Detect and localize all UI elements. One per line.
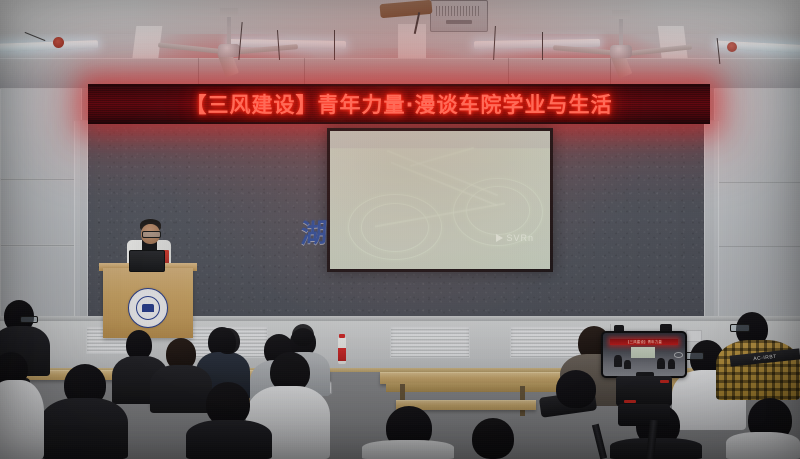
audience-body	[726, 432, 800, 459]
audience-glasses	[730, 324, 750, 332]
audience-body	[40, 398, 128, 459]
smoke-detector	[53, 37, 64, 48]
fan-motor	[610, 45, 632, 58]
audience-head	[216, 328, 240, 354]
audience-body	[610, 438, 702, 459]
wall-vent-grille	[390, 326, 470, 358]
ceiling-projector	[430, 0, 488, 32]
speaker-laptop	[129, 250, 165, 272]
preview-record-ring	[674, 352, 683, 358]
projection-screen-frame: SVRn	[327, 128, 553, 272]
audience-head	[472, 418, 514, 459]
wall-panel-right	[714, 88, 800, 340]
preview-led-text: 【三风建设】青年力量	[610, 339, 679, 345]
gimbal-body	[618, 404, 670, 426]
gimbal-accent	[624, 400, 636, 403]
fan-motor	[218, 44, 240, 57]
projector-vent	[436, 6, 480, 16]
screen-watermark: SVRn	[496, 233, 534, 243]
panel-seam	[714, 182, 800, 183]
audience-body	[0, 380, 44, 459]
led-banner-text: 【三风建设】青年力量·漫谈车院学业与生活	[186, 89, 613, 119]
audience-body	[362, 440, 454, 459]
crest-inner-ring	[136, 296, 160, 320]
bottle-label	[338, 348, 346, 361]
audience-body	[186, 420, 272, 459]
panel-seam	[714, 246, 800, 247]
preview-figure	[657, 358, 665, 369]
lecture-hall-photo: 【三风建设】青年力量·漫谈车院学业与生活 SVRn 湖	[0, 0, 800, 459]
audience-body	[150, 365, 212, 413]
wall-switch[interactable]	[686, 330, 702, 342]
play-icon	[496, 234, 503, 242]
preview-figure	[614, 355, 621, 366]
preview-led-banner: 【三风建设】青年力量	[610, 339, 679, 345]
crest-core	[142, 304, 154, 312]
operator-head	[556, 370, 596, 408]
audience-glasses	[20, 316, 38, 323]
hanging-wire	[542, 32, 543, 60]
university-crest	[128, 288, 168, 328]
watermark-text: SVRn	[506, 233, 534, 243]
projection-screen: SVRn	[330, 131, 550, 269]
wall-calligraphy: 湖	[298, 217, 330, 253]
phone-live-preview: 【三风建设】青年力量	[603, 333, 685, 376]
fan-canopy	[612, 10, 630, 19]
preview-projection-screen	[631, 347, 656, 358]
lanyard-text: AC-IRBT	[753, 353, 777, 361]
panel-seam	[0, 178, 82, 181]
fan-canopy	[220, 8, 238, 17]
panel-seam	[0, 244, 82, 247]
wall-pilaster-left	[74, 120, 88, 340]
smoke-detector	[727, 42, 737, 52]
preview-figure	[668, 359, 675, 369]
hanging-wire	[334, 30, 335, 60]
projector-lens	[446, 20, 472, 24]
audience-glasses	[684, 352, 704, 360]
screen-haze	[330, 131, 550, 269]
audience-head	[292, 324, 314, 346]
speaker-glasses	[142, 231, 161, 238]
preview-figure	[624, 360, 631, 369]
smartphone-on-gimbal[interactable]: 【三风建设】青年力量	[601, 331, 687, 378]
bottle-cap	[339, 334, 345, 338]
gimbal-accent	[660, 380, 669, 383]
led-banner: 【三风建设】青年力量·漫谈车院学业与生活	[88, 84, 710, 124]
wall-pilaster-right	[704, 120, 719, 340]
